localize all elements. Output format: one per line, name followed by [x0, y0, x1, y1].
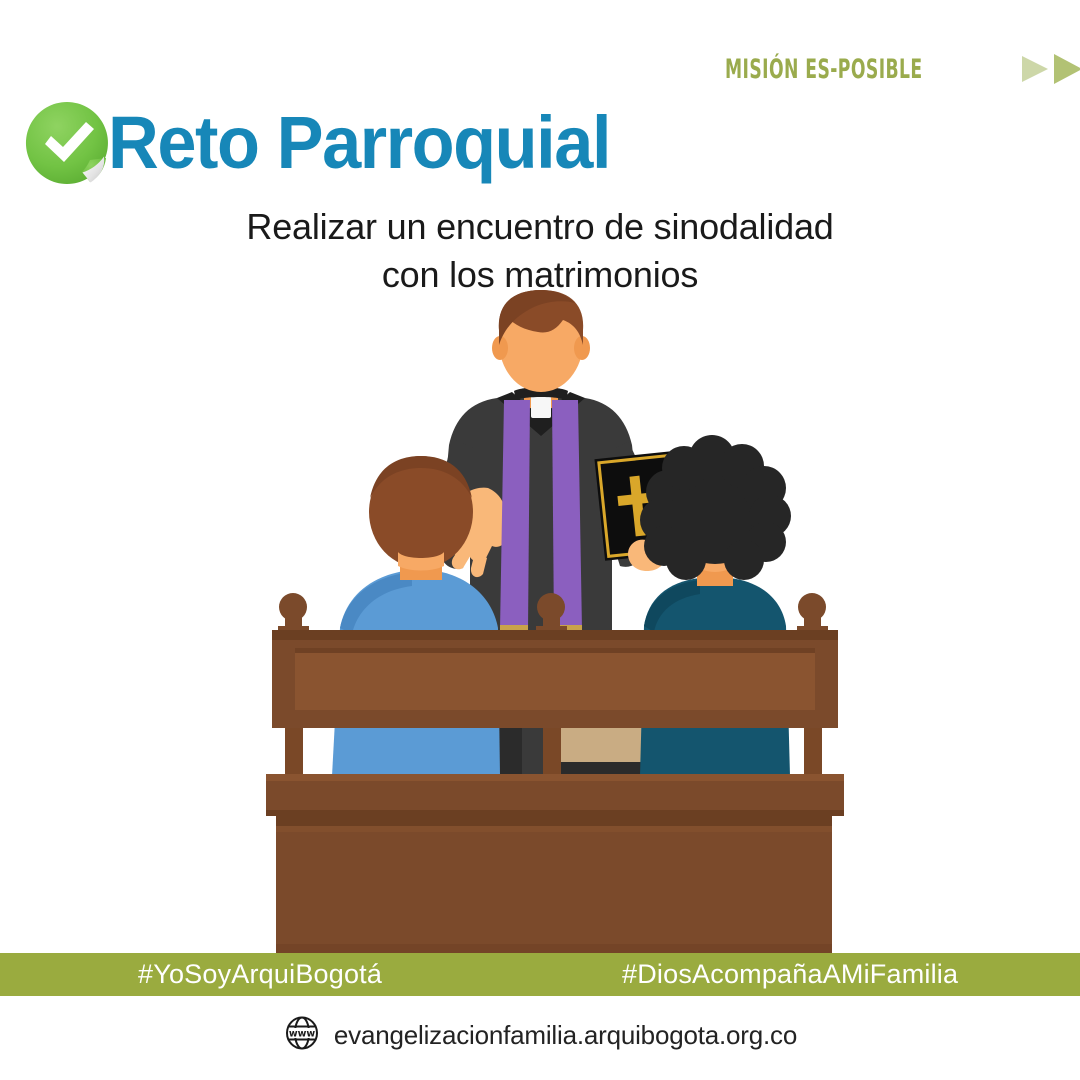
pew-finial-left — [278, 593, 309, 636]
hashtag-yosoyarquibogota: #YoSoyArquiBogotá — [138, 959, 382, 990]
illustration-priest-blessing-couple — [0, 0, 1080, 1080]
pew-finial-right — [797, 593, 828, 636]
svg-text:www: www — [289, 1029, 316, 1040]
footer-hashtag-bar: #YoSoyArquiBogotá #DiosAcompañaAMiFamili… — [0, 953, 1080, 996]
website-url[interactable]: evangelizacionfamilia.arquibogota.org.co — [334, 1020, 797, 1051]
social-media-post-canvas: MISIÓN ES-POSIBLE — [0, 0, 1080, 1080]
website-row: www evangelizacionfamilia.arquibogota.or… — [0, 1014, 1080, 1057]
pew-finial-mid — [536, 593, 567, 636]
www-globe-icon: www — [283, 1014, 321, 1057]
hashtag-diosacompanaamifamilia: #DiosAcompañaAMiFamilia — [622, 959, 958, 990]
